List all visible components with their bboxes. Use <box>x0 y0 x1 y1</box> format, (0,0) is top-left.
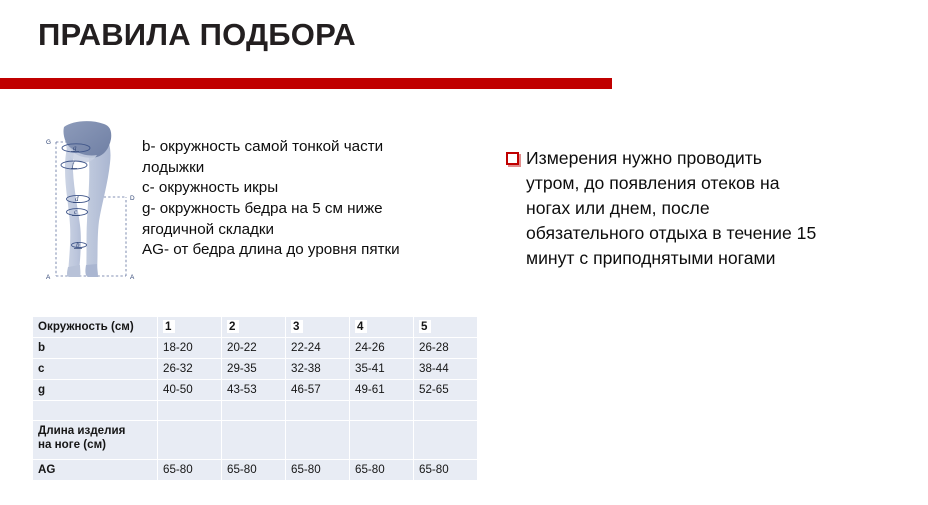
length-header-cell-1 <box>158 421 222 460</box>
svg-text:D: D <box>130 195 135 202</box>
note-line-3: ногах или днем, после <box>526 196 906 221</box>
legend-line-3: c- окружность икры <box>142 178 442 199</box>
cell-b-5: 26-28 <box>414 338 478 359</box>
length-header-line-1: Длина изделия <box>38 424 125 437</box>
cell-c-4: 35-41 <box>350 359 414 380</box>
length-header-cell-4 <box>350 421 414 460</box>
spacer-cell-4 <box>350 401 414 421</box>
cell-g-1: 40-50 <box>158 380 222 401</box>
note-line-1: Измерения нужно проводить <box>526 146 906 171</box>
svg-text:G: G <box>46 139 51 146</box>
cell-c-2: 29-35 <box>222 359 286 380</box>
spacer-cell-5 <box>414 401 478 421</box>
row-label-b: b <box>33 338 158 359</box>
table-header-size-5: 5 <box>414 317 478 338</box>
row-label-c: c <box>33 359 158 380</box>
note-line-5: минут с приподнятыми ногами <box>526 246 906 271</box>
leg-measurement-diagram: g f d c b G D A A <box>42 113 150 295</box>
size-table: Окружность (см) 1 2 3 4 5 b 18-20 20-22 … <box>32 316 478 481</box>
note-line-2: утром, до появления отеков на <box>526 171 906 196</box>
table-header-row: Окружность (см) 1 2 3 4 5 <box>33 317 478 338</box>
table-header-size-3: 3 <box>286 317 350 338</box>
legend-line-2: лодыжки <box>142 158 442 179</box>
table-row: AG 65-80 65-80 65-80 65-80 65-80 <box>33 460 478 481</box>
table-spacer-row <box>33 401 478 421</box>
cell-ag-1: 65-80 <box>158 460 222 481</box>
cell-g-4: 49-61 <box>350 380 414 401</box>
svg-text:A: A <box>46 274 51 281</box>
spacer-label <box>33 401 158 421</box>
table-row: g 40-50 43-53 46-57 49-61 52-65 <box>33 380 478 401</box>
legend-line-1: b- окружность самой тонкой части <box>142 137 442 158</box>
svg-text:A: A <box>130 274 135 281</box>
svg-text:d: d <box>75 195 79 203</box>
measurement-legend: b- окружность самой тонкой части лодыжки… <box>142 137 442 261</box>
cell-g-2: 43-53 <box>222 380 286 401</box>
cell-g-5: 52-65 <box>414 380 478 401</box>
row-label-ag: AG <box>33 460 158 481</box>
svg-text:b: b <box>76 241 80 249</box>
svg-text:f: f <box>72 161 75 169</box>
table-row: c 26-32 29-35 32-38 35-41 38-44 <box>33 359 478 380</box>
length-header-label: Длина изделия на ноге (см) <box>33 421 158 460</box>
size-table-container: Окружность (см) 1 2 3 4 5 b 18-20 20-22 … <box>32 316 418 481</box>
table-header-size-4: 4 <box>350 317 414 338</box>
note-text: Измерения нужно проводить утром, до появ… <box>526 146 906 271</box>
table-header-size-2: 2 <box>222 317 286 338</box>
square-bullet-icon <box>506 152 519 165</box>
length-header-cell-2 <box>222 421 286 460</box>
cell-c-3: 32-38 <box>286 359 350 380</box>
length-header-cell-5 <box>414 421 478 460</box>
legend-line-5: ягодичной складки <box>142 220 442 241</box>
table-row: b 18-20 20-22 22-24 24-26 26-28 <box>33 338 478 359</box>
measurement-note: Измерения нужно проводить утром, до появ… <box>506 146 906 271</box>
cell-b-1: 18-20 <box>158 338 222 359</box>
spacer-cell-2 <box>222 401 286 421</box>
cell-ag-3: 65-80 <box>286 460 350 481</box>
row-label-g: g <box>33 380 158 401</box>
cell-ag-4: 65-80 <box>350 460 414 481</box>
spacer-cell-1 <box>158 401 222 421</box>
svg-text:g: g <box>73 144 77 152</box>
table-header-label: Окружность (см) <box>33 317 158 338</box>
cell-ag-2: 65-80 <box>222 460 286 481</box>
title-underline-rule <box>0 78 612 89</box>
cell-ag-5: 65-80 <box>414 460 478 481</box>
page-title: ПРАВИЛА ПОДБОРА <box>38 17 356 53</box>
length-header-line-2: на ноге (см) <box>38 438 106 451</box>
note-line-4: обязательного отдыха в течение 15 <box>526 221 906 246</box>
cell-b-4: 24-26 <box>350 338 414 359</box>
legend-line-4: g- окружность бедра на 5 см ниже <box>142 199 442 220</box>
cell-b-3: 22-24 <box>286 338 350 359</box>
cell-c-1: 26-32 <box>158 359 222 380</box>
table-length-header-row: Длина изделия на ноге (см) <box>33 421 478 460</box>
spacer-cell-3 <box>286 401 350 421</box>
length-header-cell-3 <box>286 421 350 460</box>
legend-line-6: AG- от бедра длина до уровня пятки <box>142 240 442 261</box>
table-header-size-1: 1 <box>158 317 222 338</box>
cell-c-5: 38-44 <box>414 359 478 380</box>
cell-g-3: 46-57 <box>286 380 350 401</box>
cell-b-2: 20-22 <box>222 338 286 359</box>
